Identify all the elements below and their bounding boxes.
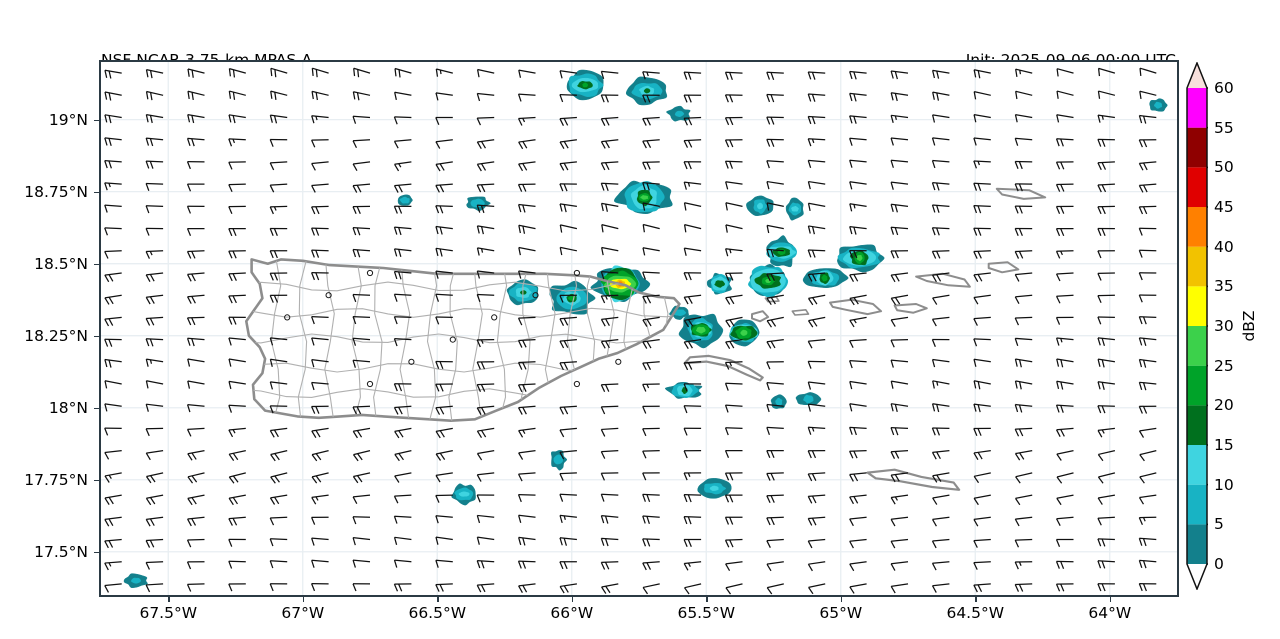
colorbar-tick-label: 50 xyxy=(1214,158,1234,176)
barb-shaft xyxy=(560,473,577,474)
barb-shaft xyxy=(519,495,536,496)
barb-shaft xyxy=(767,95,784,96)
colorbar-band xyxy=(1187,286,1207,326)
barb-shaft xyxy=(1098,561,1115,562)
colorbar-band xyxy=(1187,128,1207,168)
reflectivity-contour-band xyxy=(644,89,650,94)
colorbar-svg xyxy=(1186,62,1208,590)
colorbar-band xyxy=(1187,207,1207,247)
lon-tick-label: 66.5°W xyxy=(408,604,466,622)
barb-shaft xyxy=(146,562,163,563)
barb-shaft xyxy=(767,72,784,73)
barb-shaft xyxy=(601,562,618,563)
barb-shaft xyxy=(146,339,163,340)
lon-tick-label: 64°W xyxy=(1088,604,1131,622)
lon-tick-label: 67.5°W xyxy=(139,604,197,622)
lat-tick-label: 18.75°N xyxy=(0,183,88,201)
barb-shaft xyxy=(146,183,163,184)
lon-tick-label: 65.5°W xyxy=(677,604,735,622)
barb-shaft xyxy=(394,294,411,295)
colorbar-band xyxy=(1187,88,1207,128)
barb-shaft xyxy=(477,118,494,119)
barb-shaft xyxy=(767,517,784,518)
colorbar-tick-label: 40 xyxy=(1214,238,1234,256)
barb-shaft xyxy=(353,317,370,318)
barb-shaft xyxy=(726,428,743,429)
barb-shaft xyxy=(726,161,743,162)
barb-shaft xyxy=(1098,539,1115,540)
barb-shaft xyxy=(1015,584,1032,585)
colorbar-band xyxy=(1187,485,1207,525)
lon-tick-label: 66°W xyxy=(550,604,593,622)
barb-shaft xyxy=(477,294,494,295)
barb-shaft xyxy=(643,272,660,273)
colorbar-band xyxy=(1187,445,1207,485)
barb-shaft xyxy=(808,250,825,251)
barb-shaft xyxy=(726,362,743,363)
barb-shaft xyxy=(1015,428,1032,429)
barb-shaft xyxy=(726,540,743,541)
barb-shaft xyxy=(684,406,701,407)
colorbar-band xyxy=(1187,167,1207,207)
barb-shaft xyxy=(229,295,246,296)
reflectivity-contour-band xyxy=(757,203,762,209)
barb-shaft xyxy=(932,228,949,229)
barb-shaft xyxy=(767,495,784,496)
colorbar-tick-label: 5 xyxy=(1214,515,1224,533)
barb-shaft xyxy=(477,384,494,385)
barb-shaft xyxy=(229,561,246,562)
barb-shaft xyxy=(891,340,908,341)
barb-shaft xyxy=(105,251,122,252)
lat-tick-label: 19°N xyxy=(0,111,88,129)
lat-tick-label: 17.5°N xyxy=(0,543,88,561)
barb-shaft xyxy=(684,140,701,141)
barb-shaft xyxy=(270,539,287,540)
barb-shaft xyxy=(643,539,660,540)
colorbar-tick-label: 55 xyxy=(1214,119,1234,137)
lat-tick-label: 18.5°N xyxy=(0,255,88,273)
barb-shaft xyxy=(601,384,618,385)
colorbar-tick-label: 60 xyxy=(1214,79,1234,97)
barb-shaft xyxy=(188,540,205,541)
barb-shaft xyxy=(1015,317,1032,318)
forecast-map-panel[interactable] xyxy=(99,60,1179,597)
barb-shaft xyxy=(643,451,660,452)
lat-tick-label: 18.25°N xyxy=(0,327,88,345)
barb-shaft xyxy=(1098,517,1115,518)
barb-shaft xyxy=(560,95,577,96)
barb-shaft xyxy=(726,383,743,384)
reflectivity-contour-band xyxy=(131,578,141,583)
colorbar-band xyxy=(1187,524,1207,564)
barb-shaft xyxy=(932,251,949,252)
barb-shaft xyxy=(726,72,743,73)
barb-shaft xyxy=(105,228,122,229)
reflectivity-contour-band xyxy=(741,330,748,336)
colorbar-band xyxy=(1187,366,1207,406)
barb-shaft xyxy=(353,517,370,518)
barb-shaft xyxy=(601,295,618,296)
colorbar-bands xyxy=(1187,63,1207,589)
colorbar-under-arrow xyxy=(1187,564,1207,589)
barb-shaft xyxy=(394,117,411,118)
colorbar-tick-label: 30 xyxy=(1214,317,1234,335)
barb-shaft xyxy=(229,139,246,140)
barb-shaft xyxy=(146,161,163,162)
barb-shaft xyxy=(1139,317,1156,318)
barb-shaft xyxy=(353,406,370,407)
reflectivity-contour-band xyxy=(583,83,588,87)
lon-tick-label: 67°W xyxy=(281,604,324,622)
barb-shaft xyxy=(146,206,163,207)
colorbar-band xyxy=(1187,405,1207,445)
barb-shaft xyxy=(974,183,991,184)
barb-shaft xyxy=(394,317,411,318)
barb-shaft xyxy=(1015,540,1032,541)
colorbar-band xyxy=(1187,247,1207,287)
colorbar-axis-label: dBZ xyxy=(1240,310,1258,341)
barb-shaft xyxy=(601,406,618,407)
colorbar-band xyxy=(1187,326,1207,366)
colorbar-over-arrow xyxy=(1187,63,1207,88)
barb-shaft xyxy=(436,584,453,585)
barb-shaft xyxy=(974,251,991,252)
barb-shaft xyxy=(353,295,370,296)
reflectivity-colorbar[interactable] xyxy=(1186,62,1208,590)
barb-shaft xyxy=(974,206,991,207)
barb-shaft xyxy=(1015,251,1032,252)
colorbar-tick-label: 25 xyxy=(1214,357,1234,375)
barb-shaft xyxy=(643,494,660,495)
barb-shaft xyxy=(767,473,784,474)
barb-shaft xyxy=(601,183,618,184)
barb-shaft xyxy=(974,339,991,340)
barb-shaft xyxy=(146,251,163,252)
barb-shaft xyxy=(519,384,536,385)
barb-shaft xyxy=(850,451,867,452)
colorbar-tick-label: 45 xyxy=(1214,198,1234,216)
barb-shaft xyxy=(519,317,536,318)
map-svg xyxy=(101,62,1177,595)
barb-shaft xyxy=(270,517,287,518)
colorbar-tick-label: 15 xyxy=(1214,436,1234,454)
barb-shaft xyxy=(601,494,618,495)
colorbar-tick-label: 20 xyxy=(1214,396,1234,414)
map-canvas xyxy=(101,62,1177,595)
barb-shaft xyxy=(436,294,453,295)
barb-shaft xyxy=(436,206,453,207)
barb-shaft xyxy=(312,250,329,251)
lat-tick-label: 17.75°N xyxy=(0,471,88,489)
barb-shaft xyxy=(684,118,701,119)
barb-shaft xyxy=(1098,162,1115,163)
lon-tick-label: 64.5°W xyxy=(946,604,1004,622)
lat-tick-label: 18°N xyxy=(0,399,88,417)
map-background xyxy=(101,62,1177,595)
barb-shaft xyxy=(519,362,536,363)
barb-shaft xyxy=(188,251,205,252)
colorbar-tick-label: 10 xyxy=(1214,476,1234,494)
barb-shaft xyxy=(891,428,908,429)
barb-shaft xyxy=(560,494,577,495)
barb-shaft xyxy=(229,184,246,185)
barb-shaft xyxy=(312,317,329,318)
colorbar-tick-label: 0 xyxy=(1214,555,1224,573)
barb-shaft xyxy=(229,273,246,274)
colorbar-tick-label: 35 xyxy=(1214,277,1234,295)
lon-tick-label: 65°W xyxy=(819,604,862,622)
barb-shaft xyxy=(1139,250,1156,251)
barb-shaft xyxy=(684,517,701,518)
barb-shaft xyxy=(643,162,660,163)
barb-shaft xyxy=(519,561,536,562)
